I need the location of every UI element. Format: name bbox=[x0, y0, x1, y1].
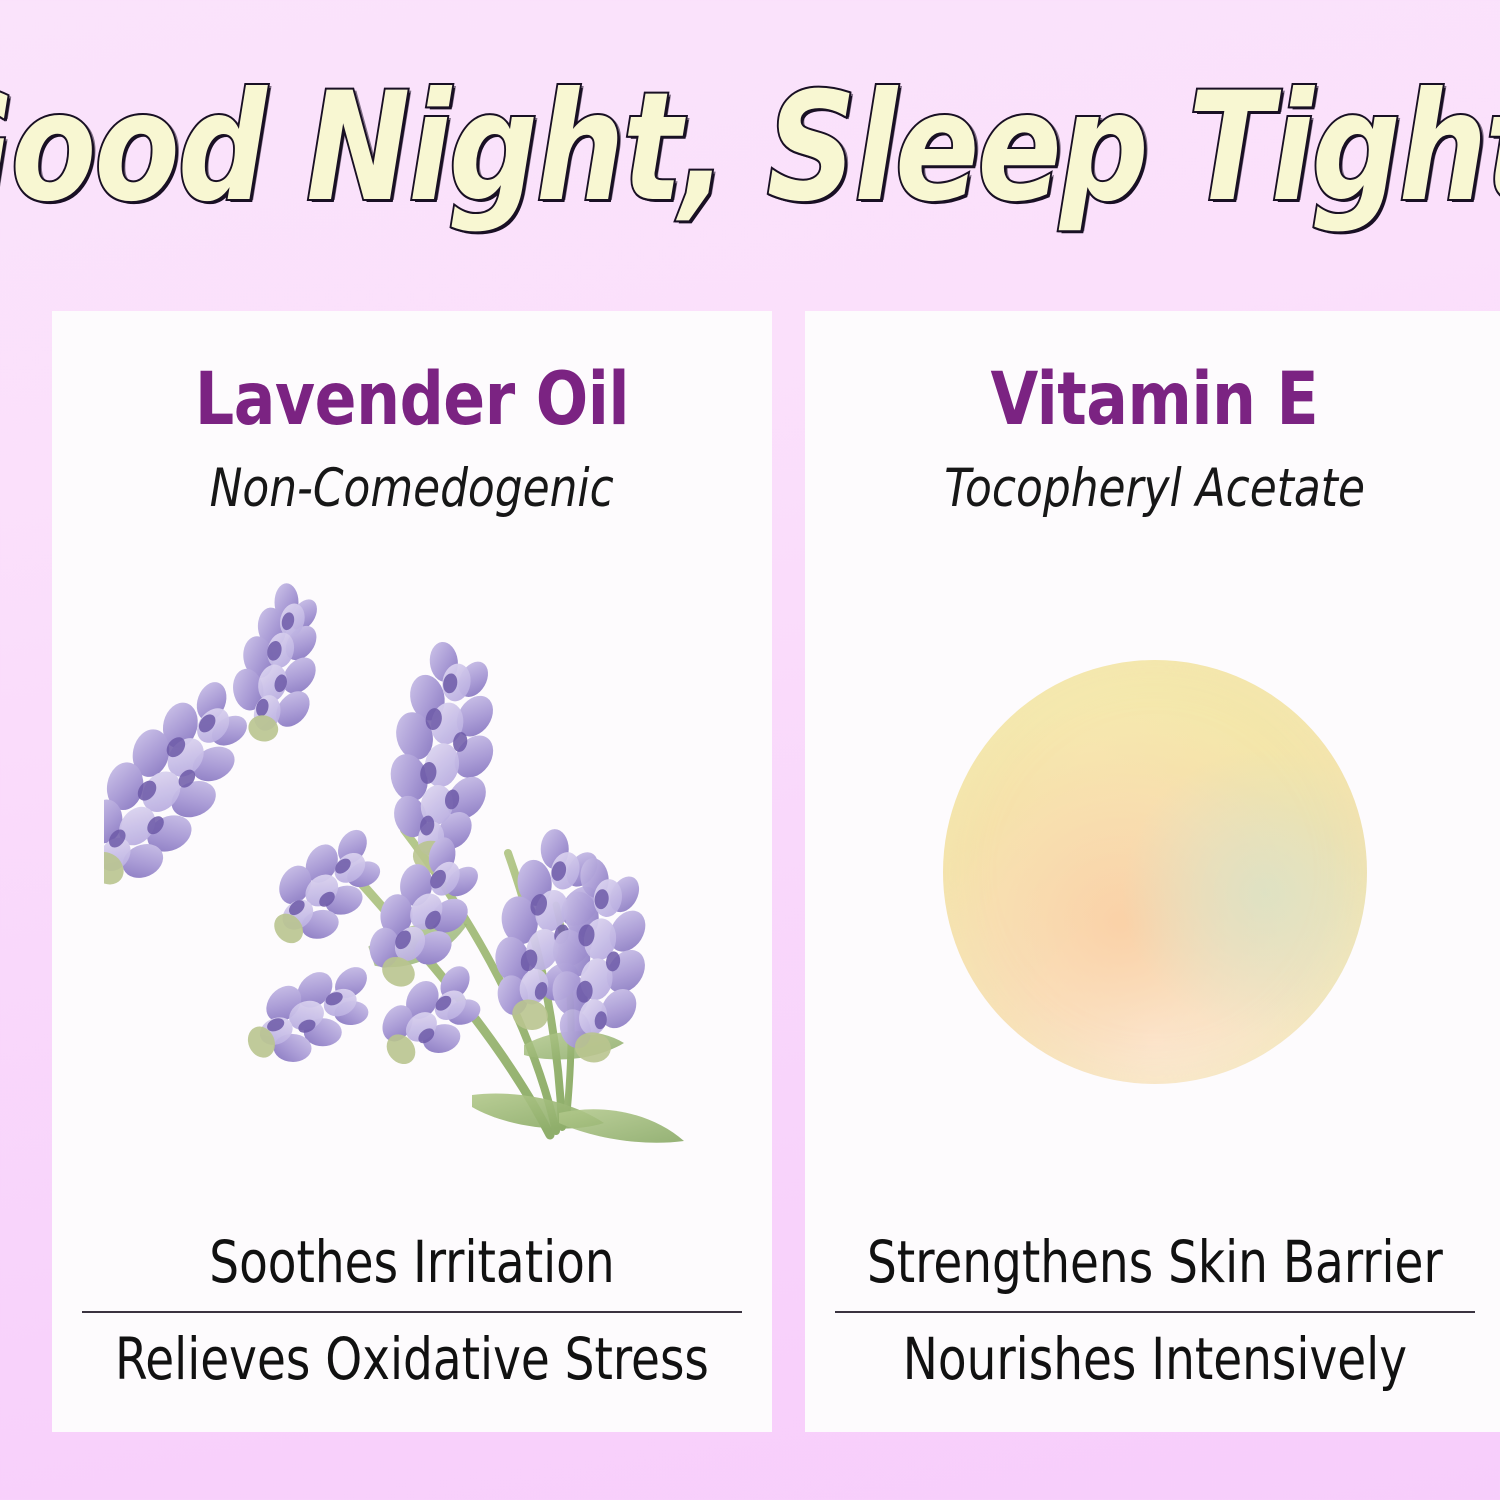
benefits-vitamin-e: Strengthens Skin Barrier Nourishes Inten… bbox=[827, 1224, 1483, 1392]
card-visual-vitamin-e bbox=[827, 515, 1483, 1224]
vitamin-e-droplet-icon bbox=[943, 660, 1367, 1084]
ingredient-card-lavender-oil: Lavender Oil Non-Comedogenic bbox=[52, 311, 772, 1432]
card-visual-lavender bbox=[74, 515, 750, 1224]
headline-banner: Good Night, Sleep Tight. bbox=[0, 0, 1500, 295]
leaf bbox=[559, 1109, 684, 1143]
card-subtitle-lavender-oil: Non-Comedogenic bbox=[210, 462, 614, 515]
ingredient-cards: Lavender Oil Non-Comedogenic bbox=[52, 311, 1448, 1432]
benefit-item: Relieves Oxidative Stress bbox=[115, 1313, 709, 1392]
card-subtitle-vitamin-e: Tocopheryl Acetate bbox=[944, 462, 1365, 515]
card-title-vitamin-e: Vitamin E bbox=[991, 363, 1319, 436]
benefit-item: Nourishes Intensively bbox=[867, 1313, 1443, 1392]
ingredient-card-vitamin-e: Vitamin E Tocopheryl Acetate Strengthens… bbox=[805, 311, 1500, 1432]
benefit-item: Soothes Irritation bbox=[115, 1224, 709, 1307]
lavender-sprig-icon bbox=[104, 575, 719, 1175]
benefits-lavender-oil: Soothes Irritation Relieves Oxidative St… bbox=[74, 1224, 750, 1392]
benefit-item: Strengthens Skin Barrier bbox=[867, 1224, 1443, 1307]
card-title-lavender-oil: Lavender Oil bbox=[195, 363, 629, 436]
lavender-spike bbox=[231, 946, 394, 1082]
page-title: Good Night, Sleep Tight. bbox=[0, 73, 1500, 223]
